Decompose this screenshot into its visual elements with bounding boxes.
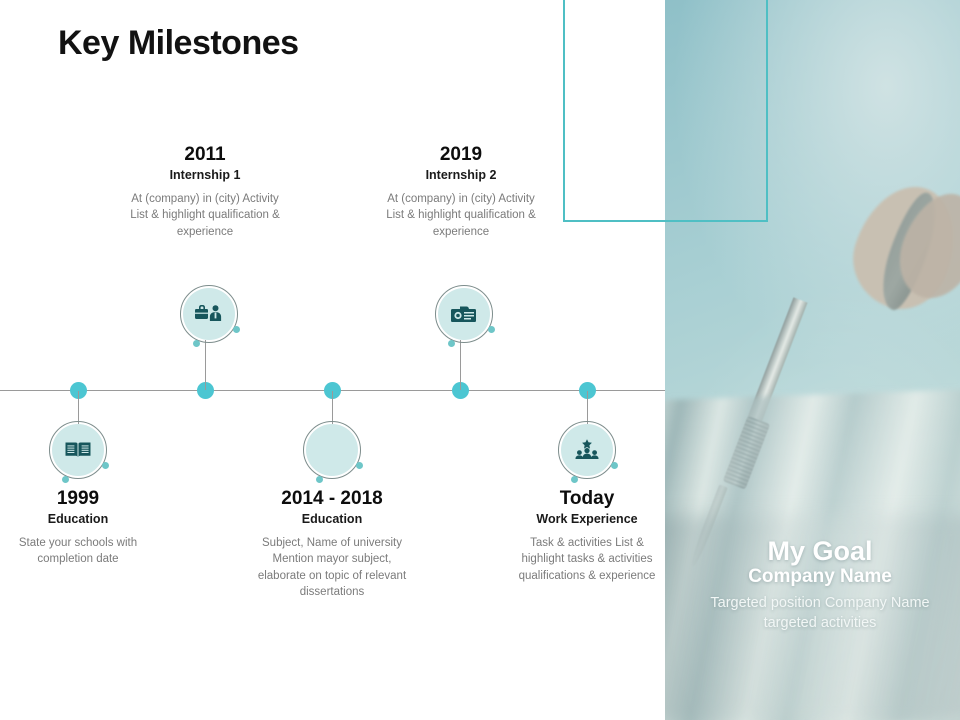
milestone-body: At (company) in (city) Activity List & h… — [386, 191, 536, 240]
goal-subtitle: Company Name — [705, 567, 935, 588]
team-star-icon — [561, 424, 613, 476]
page-title: Key Milestones — [58, 24, 299, 63]
open-book-icon — [52, 424, 104, 476]
goal-body: Targeted position Company Name targeted … — [705, 594, 935, 633]
connector-2019 — [460, 340, 461, 390]
blank-icon — [306, 424, 358, 476]
milestone-subtitle: Internship 2 — [386, 168, 536, 183]
timeline-node-2019[interactable] — [438, 288, 490, 340]
milestone-subtitle: Work Experience — [512, 512, 662, 527]
milestone-body: State your schools with completion date — [18, 535, 138, 568]
milestone-body: Subject, Name of university Mention mayo… — [252, 535, 412, 600]
timeline-node-2011[interactable] — [183, 288, 235, 340]
timeline-node-2014-2018[interactable] — [306, 424, 358, 476]
decorative-rectangle — [563, 0, 768, 222]
milestone-subtitle: Education — [18, 512, 138, 527]
goal-title: My Goal — [705, 537, 935, 565]
milestone-body: Task & activities List & highlight tasks… — [512, 535, 662, 584]
milestone-block-2014-2018: 2014 - 2018 Education Subject, Name of u… — [252, 488, 412, 600]
milestone-year: 2011 — [130, 144, 280, 166]
node-ring-dot-b — [62, 476, 69, 483]
milestone-block-2019: 2019 Internship 2 At (company) in (city)… — [386, 144, 536, 240]
milestone-block-1999: 1999 Education State your schools with c… — [18, 488, 138, 568]
connector-2014-2018 — [332, 391, 333, 424]
slide-canvas: Key Milestones My Goal Company Name Targ… — [0, 0, 960, 720]
id-badge-icon — [438, 288, 490, 340]
briefcase-person-icon — [183, 288, 235, 340]
node-ring-dot-b — [571, 476, 578, 483]
milestone-block-2011: 2011 Internship 1 At (company) in (city)… — [130, 144, 280, 240]
connector-1999 — [78, 391, 79, 424]
connector-2011 — [205, 340, 206, 390]
milestone-body: At (company) in (city) Activity List & h… — [130, 191, 280, 240]
milestone-block-today: Today Work Experience Task & activities … — [512, 488, 662, 584]
milestone-year: 2019 — [386, 144, 536, 166]
milestone-year: 2014 - 2018 — [252, 488, 412, 510]
milestone-subtitle: Education — [252, 512, 412, 527]
connector-today — [587, 391, 588, 424]
milestone-subtitle: Internship 1 — [130, 168, 280, 183]
node-ring-dot-b — [193, 340, 200, 347]
timeline-node-today[interactable] — [561, 424, 613, 476]
node-ring-dot-b — [448, 340, 455, 347]
timeline-node-1999[interactable] — [52, 424, 104, 476]
node-ring-dot-b — [316, 476, 323, 483]
milestone-year: Today — [512, 488, 662, 510]
milestone-year: 1999 — [18, 488, 138, 510]
goal-text-block: My Goal Company Name Targeted position C… — [705, 537, 935, 633]
